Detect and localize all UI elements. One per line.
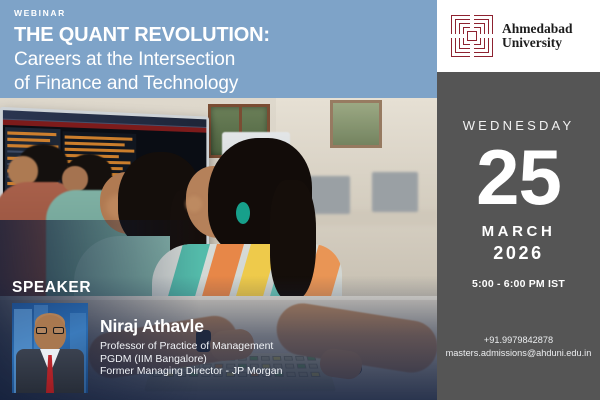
page-title: THE QUANT REVOLUTION: xyxy=(14,23,437,48)
header-band: WEBINAR THE QUANT REVOLUTION: Careers at… xyxy=(0,0,437,98)
event-time: 5:00 - 6:00 PM IST xyxy=(437,278,600,290)
window-secondary xyxy=(330,100,382,148)
event-date-block: WEDNESDAY 25 MARCH 2026 5:00 - 6:00 PM I… xyxy=(437,72,600,290)
left-column: WEBINAR THE QUANT REVOLUTION: Careers at… xyxy=(0,0,437,400)
person-2-face xyxy=(62,166,88,192)
event-day-number: 25 xyxy=(437,139,600,215)
contact-email[interactable]: masters.admissions@ahduni.edu.in xyxy=(437,347,600,360)
speaker-section-label: SPEAKER xyxy=(12,279,91,297)
speaker-credentials: Professor of Practice of Management PGDM… xyxy=(100,340,282,378)
eyebrow-label: WEBINAR xyxy=(14,7,437,19)
brand-logo-panel: Ahmedabad University xyxy=(437,0,600,72)
avatar xyxy=(12,303,88,393)
speaker-name: Niraj Athavle xyxy=(100,316,204,337)
webinar-poster: WEBINAR THE QUANT REVOLUTION: Careers at… xyxy=(0,0,600,400)
speaker-credential-line: PGDM (IIM Bangalore) xyxy=(100,353,282,366)
subtitle-line-1: Careers at the Intersection xyxy=(14,48,437,72)
brand-name-line-2: University xyxy=(502,36,573,51)
contact-phone[interactable]: +91.9979842878 xyxy=(437,334,600,347)
brand-name-line-1: Ahmedabad xyxy=(502,22,573,37)
event-day-of-week: WEDNESDAY xyxy=(437,118,600,133)
background-monitor-2 xyxy=(372,172,418,212)
eyeglasses-icon xyxy=(36,327,64,334)
contact-block: +91.9979842878 masters.admissions@ahduni… xyxy=(437,334,600,360)
right-column: Ahmedabad University WEDNESDAY 25 MARCH … xyxy=(437,0,600,400)
concentric-squares-icon xyxy=(451,15,493,57)
speaker-credential-line: Former Managing Director - JP Morgan xyxy=(100,365,282,378)
event-year: 2026 xyxy=(437,243,600,264)
person-4-nose xyxy=(186,196,202,212)
brand-name: Ahmedabad University xyxy=(502,22,573,51)
speaker-credential-line: Professor of Practice of Management xyxy=(100,340,282,353)
subtitle-line-2: of Finance and Technology xyxy=(14,72,437,96)
event-month: MARCH xyxy=(437,223,600,240)
person-4-earring xyxy=(236,202,250,224)
